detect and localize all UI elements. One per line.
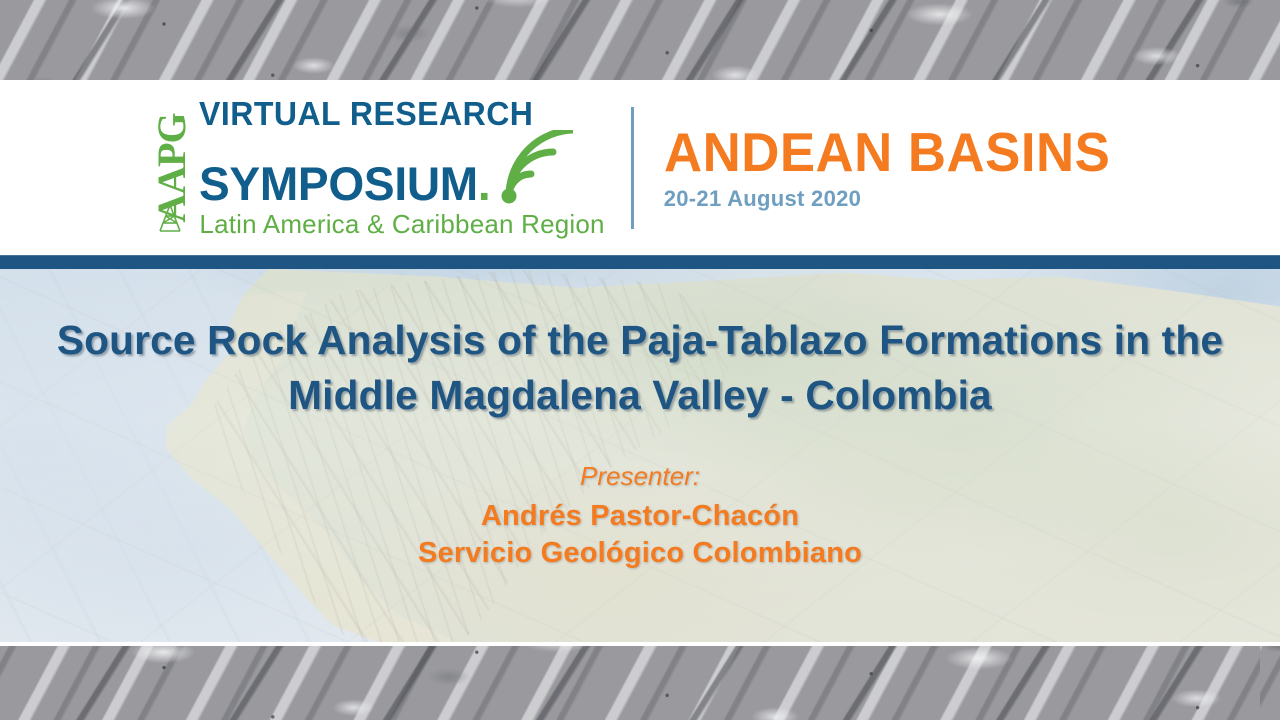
bottom-texture-band	[0, 646, 1280, 720]
aapg-logo: AAPG	[151, 106, 193, 230]
symposium-lockup: VIRTUAL RESEARCH SYMPOSIUM.	[199, 97, 604, 239]
title-slide: AAPG VIRTUAL RESEARCH SYMPOSIUM.	[0, 0, 1280, 720]
derrick-icon	[155, 202, 185, 232]
presenter-name: Andrés Pastor-Chacón	[481, 498, 799, 535]
presenter-organization: Servicio Geológico Colombiano	[418, 535, 862, 572]
texture-specks-layer	[0, 646, 1280, 720]
event-name: ANDEAN BASINS	[664, 124, 1110, 180]
logo-line-virtual-research: VIRTUAL RESEARCH	[199, 97, 592, 130]
top-texture-band	[0, 0, 1280, 80]
wifi-signal-icon	[499, 130, 573, 206]
texture-specks-layer	[0, 0, 1280, 80]
event-dates: 20-21 August 2020	[664, 187, 1129, 211]
navy-divider-bar	[0, 255, 1280, 269]
event-block: ANDEAN BASINS 20-21 August 2020	[664, 124, 1129, 211]
logo-region-line: Latin America & Caribbean Region	[199, 210, 604, 239]
logo-line-symposium: SYMPOSIUM.	[199, 160, 490, 208]
header-inner: AAPG VIRTUAL RESEARCH SYMPOSIUM.	[151, 104, 1128, 232]
logo-symposium-word: SYMPOSIUM	[199, 157, 478, 210]
page-title: Source Rock Analysis of the Paja-Tablazo…	[56, 313, 1224, 423]
logo-row-symposium: SYMPOSIUM.	[199, 130, 604, 208]
header-band: AAPG VIRTUAL RESEARCH SYMPOSIUM.	[0, 80, 1280, 255]
slide-copy: Source Rock Analysis of the Paja-Tablazo…	[0, 269, 1280, 644]
logo-symposium-dot: .	[478, 157, 491, 210]
header-divider	[631, 107, 634, 229]
presenter-label: Presenter:	[580, 461, 700, 492]
